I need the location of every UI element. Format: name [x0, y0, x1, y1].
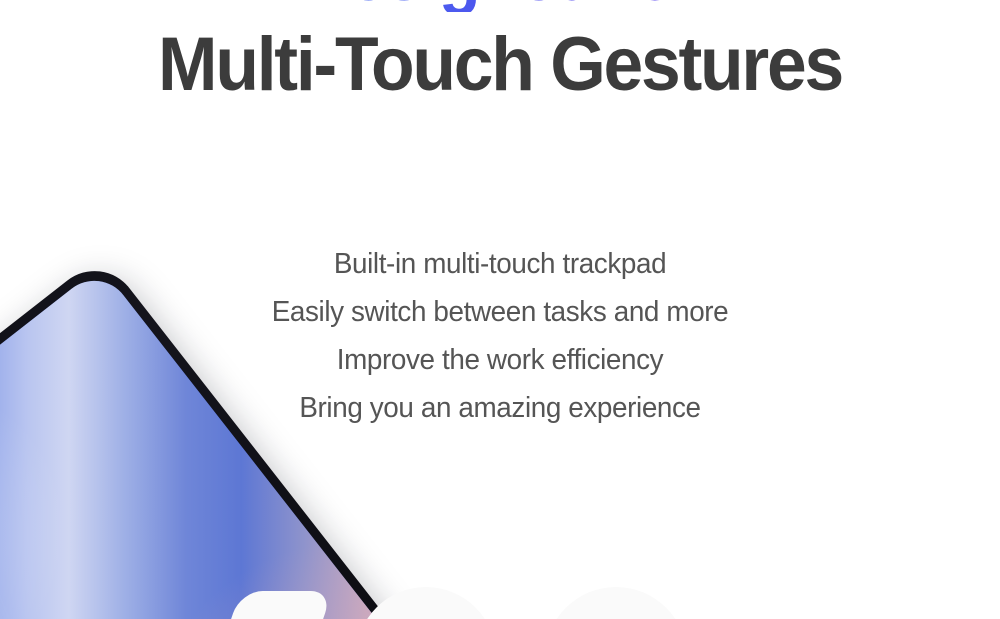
feature-cards-row [0, 592, 1000, 619]
headline-block: Designed for Multi-Touch Gestures [0, 0, 1000, 104]
feature-line-3: Improve the work efficiency [20, 336, 980, 384]
headline-accent-line: Designed for [35, 0, 965, 12]
feature-card-3[interactable] [545, 587, 687, 619]
product-feature-section: Designed for Multi-Touch Gestures Built-… [0, 0, 1000, 619]
feature-line-1: Built-in multi-touch trackpad [20, 240, 980, 288]
feature-description-list: Built-in multi-touch trackpad Easily swi… [0, 240, 1000, 432]
page-title: Multi-Touch Gestures [30, 26, 970, 104]
feature-line-4: Bring you an amazing experience [20, 384, 980, 432]
feature-line-2: Easily switch between tasks and more [20, 288, 980, 336]
device-sheen-highlight [0, 402, 163, 619]
feature-card-1[interactable] [215, 591, 332, 619]
feature-card-2[interactable] [356, 587, 496, 619]
